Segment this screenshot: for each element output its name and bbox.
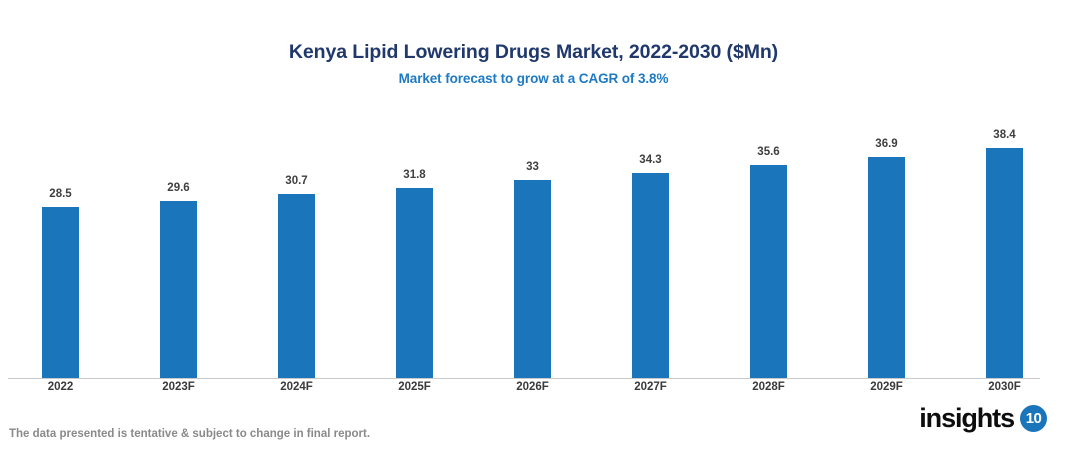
x-axis-tick-label: 2028F	[710, 381, 827, 393]
bar-group: 28.5 2022	[2, 0, 120, 454]
bar-group: 35.6 2028F	[710, 0, 828, 454]
bar-group: 29.6 2023F	[120, 0, 238, 454]
bar-group: 33 2026F	[474, 0, 592, 454]
bar-value-label: 38.4	[946, 129, 1063, 141]
plot-area: 28.5 2022 29.6 2023F 30.7 2024F 31.8 202…	[0, 0, 1067, 454]
bar-value-label: 36.9	[828, 138, 945, 150]
bar-value-label: 33	[474, 161, 591, 173]
bar[interactable]	[278, 194, 315, 378]
bar-value-label: 28.5	[2, 188, 119, 200]
bar-group: 36.9 2029F	[828, 0, 946, 454]
disclaimer-text: The data presented is tentative & subjec…	[9, 428, 370, 440]
bar[interactable]	[514, 180, 551, 378]
insights10-logo: insights 10	[919, 405, 1047, 432]
bar[interactable]	[396, 188, 433, 378]
chart-container: Kenya Lipid Lowering Drugs Market, 2022-…	[0, 0, 1067, 454]
bar[interactable]	[42, 207, 79, 378]
x-axis-tick-label: 2025F	[356, 381, 473, 393]
bar[interactable]	[750, 165, 787, 378]
bar-group: 34.3 2027F	[592, 0, 710, 454]
x-axis-tick-label: 2030F	[946, 381, 1063, 393]
logo-wordmark: insights	[919, 405, 1014, 432]
bar[interactable]	[160, 201, 197, 378]
bar-value-label: 29.6	[120, 182, 237, 194]
x-axis-tick-label: 2029F	[828, 381, 945, 393]
logo-badge-icon: 10	[1020, 405, 1047, 432]
bar[interactable]	[868, 157, 905, 378]
bar-group: 31.8 2025F	[356, 0, 474, 454]
x-axis-tick-label: 2026F	[474, 381, 591, 393]
bar-value-label: 34.3	[592, 154, 709, 166]
bar[interactable]	[986, 148, 1023, 378]
bar-value-label: 31.8	[356, 169, 473, 181]
bar-value-label: 30.7	[238, 175, 355, 187]
x-axis-tick-label: 2023F	[120, 381, 237, 393]
bar-group: 38.4 2030F	[946, 0, 1064, 454]
bar-group: 30.7 2024F	[238, 0, 356, 454]
x-axis-tick-label: 2027F	[592, 381, 709, 393]
x-axis-tick-label: 2022	[2, 381, 119, 393]
bar-value-label: 35.6	[710, 146, 827, 158]
x-axis-tick-label: 2024F	[238, 381, 355, 393]
bar[interactable]	[632, 173, 669, 378]
